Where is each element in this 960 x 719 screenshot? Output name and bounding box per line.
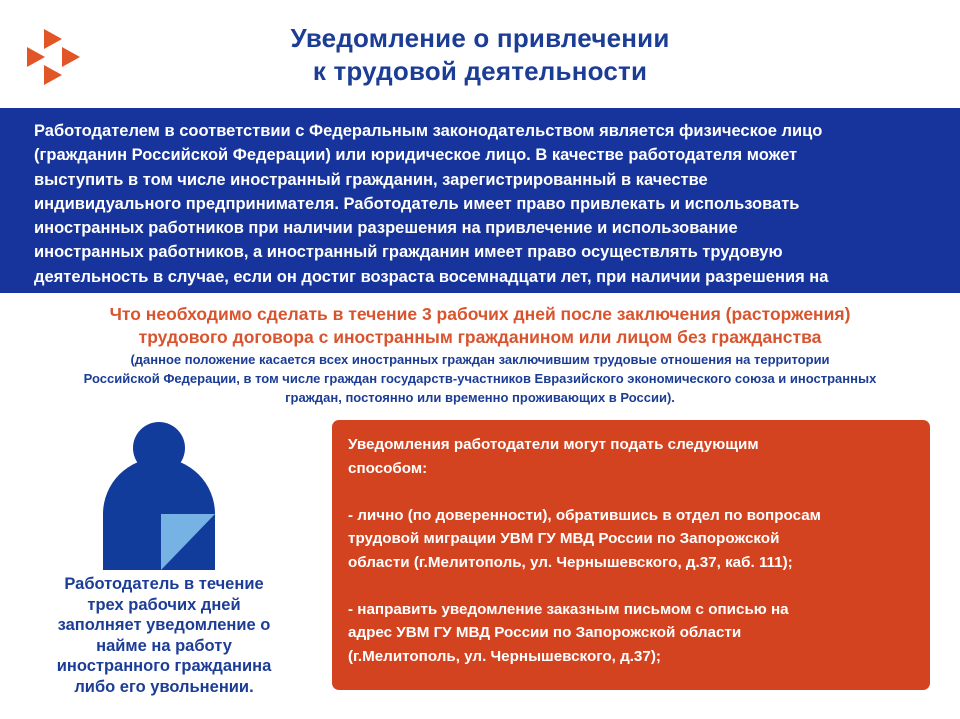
orange-spacer [348, 668, 914, 692]
page-title-line-1: Уведомление о привлечении [170, 22, 790, 55]
section-heading-line: трудового договора с иностранным граждан… [0, 326, 960, 349]
section-heading-line: Что необходимо сделать в течение 3 рабоч… [0, 303, 960, 326]
left-panel-caption: Работодатель в течение трех рабочих дней… [8, 574, 320, 697]
caption-line: найме на работу [8, 636, 320, 657]
page-title: Уведомление о привлечении к трудовой дея… [170, 22, 790, 88]
caption-line: заполняет уведомление о [8, 615, 320, 636]
orange-text-line: - лично (по доверенности), обратившись в… [348, 504, 914, 528]
blue-text-line: индивидуального предпринимателя. Работод… [34, 192, 930, 216]
caption-line: иностранного гражданина [8, 656, 320, 677]
orange-text-line: адрес УВМ ГУ МВД России по Запорожской о… [348, 621, 914, 645]
orange-spacer [348, 480, 914, 504]
orange-text-line: трудовой миграции УВМ ГУ МВД России по З… [348, 527, 914, 551]
person-avatar-icon [93, 419, 233, 571]
blue-text-line: Работодателем в соответствии с Федеральн… [34, 119, 930, 143]
caption-line: Работодатель в течение [8, 574, 320, 595]
section-heading: Что необходимо сделать в течение 3 рабоч… [0, 303, 960, 348]
orange-text-line: (г.Мелитополь, ул. Чернышевского, д.37); [348, 645, 914, 669]
orange-text-line: - через Единый портал государственных ус… [348, 692, 914, 716]
intro-blue-panel: Работодателем в соответствии с Федеральн… [0, 108, 960, 293]
caption-line: трех рабочих дней [8, 595, 320, 616]
mvd-triangles-logo [26, 28, 82, 86]
orange-spacer [348, 574, 914, 598]
blue-text-line: выступить в том числе иностранный гражда… [34, 168, 930, 192]
page-title-line-2: к трудовой деятельности [170, 55, 790, 88]
section-subnote-line: граждан, постоянно или временно проживаю… [0, 388, 960, 407]
caption-line: либо его увольнении. [8, 677, 320, 698]
submission-methods-panel: Уведомления работодатели могут подать сл… [332, 420, 930, 690]
section-subnote: (данное положение касается всех иностран… [0, 350, 960, 407]
orange-text-line: Уведомления работодатели могут подать сл… [348, 433, 914, 457]
blue-text-line: иностранных работников при наличии разре… [34, 216, 930, 240]
blue-text-line: иностранных работников, а иностранный гр… [34, 240, 930, 264]
page-header: Уведомление о привлечении к трудовой дея… [0, 0, 960, 108]
blue-text-line: деятельность в случае, если он достиг во… [34, 265, 930, 289]
orange-text-line: способом: [348, 457, 914, 481]
orange-text-line: - направить уведомление заказным письмом… [348, 598, 914, 622]
blue-text-line: (гражданин Российской Федерации) или юри… [34, 143, 930, 167]
orange-text-line: области (г.Мелитополь, ул. Чернышевского… [348, 551, 914, 575]
section-subnote-line: Российской Федерации, в том числе гражда… [0, 369, 960, 388]
section-subnote-line: (данное положение касается всех иностран… [0, 350, 960, 369]
